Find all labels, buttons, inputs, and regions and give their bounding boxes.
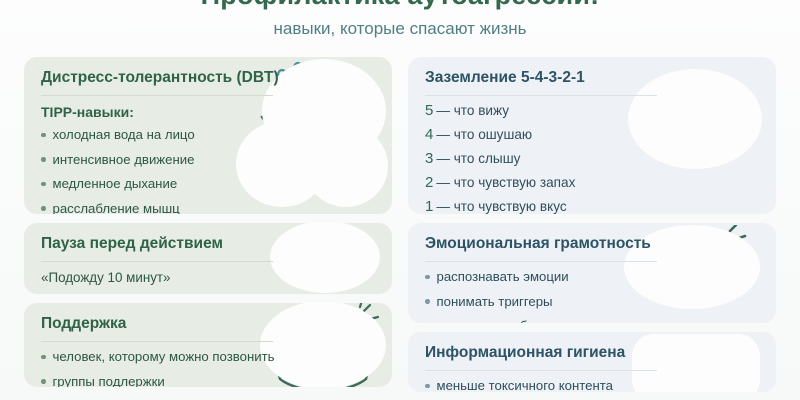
grounding-steps-list: 5— что вижу 4— что ошушаю 3— что слышу 2… (425, 103, 762, 214)
step-label: — что слышу (436, 151, 520, 166)
support-list: человек, которому можно позвонить группы… (41, 349, 378, 387)
list-item: 5— что вижу (425, 103, 762, 119)
page-header: Профилактика аутоагрессии: навыки, котор… (0, 0, 800, 40)
list-item: 3— что слышу (425, 151, 762, 167)
card-heading: Поддержка (41, 314, 378, 334)
divider (425, 261, 657, 262)
list-item: человек, которому можно позвонить (41, 349, 378, 365)
list-item-label: меньше токсичного контента (437, 378, 614, 392)
card-emotional-literacy[interactable]: Эмоциональная грамотность распознавать э… (408, 223, 776, 323)
card-subheading: TIPP-навыки: (41, 103, 378, 122)
step-number: 1 (425, 198, 433, 214)
card-heading: Заземление 5-4-3-2-1 (425, 68, 762, 88)
step-label: — что чувствую запах (436, 175, 575, 190)
bullet-dot (41, 182, 46, 187)
card-support[interactable]: Поддержка человек, которому можно позвон… (24, 303, 392, 387)
step-label: — что чувствую вкус (436, 199, 566, 214)
card-heading: Пауза перед действием (41, 234, 378, 254)
bullet-dot (41, 379, 46, 384)
bullet-dot (425, 384, 430, 389)
info-hygiene-list: меньше токсичного контента (425, 378, 762, 392)
emotional-literacy-list: распознавать эмоции понимать триггеры ра… (425, 269, 762, 323)
list-item-label: интенсивное движение (53, 152, 195, 168)
step-number: 2 (425, 174, 433, 191)
divider (41, 341, 273, 342)
card-grounding[interactable]: Заземление 5-4-3-2-1 5— что вижу 4— что … (408, 57, 776, 214)
step-label: — что ошушаю (436, 127, 532, 142)
card-heading: Информационная гигиена (425, 343, 762, 363)
left-column: Дистресс-толерантность (DBT) TIPP-навыки… (24, 57, 392, 387)
list-item: 2— что чувствую запах (425, 175, 762, 191)
step-number: 5 (425, 102, 433, 119)
list-item: группы подлержки (41, 374, 378, 388)
list-item-label: разрешать себе чувствовать (437, 318, 613, 323)
list-item-label: расслабление мышц (53, 201, 180, 215)
list-item: медленное дыхание (41, 176, 378, 192)
list-item: распознавать эмоции (425, 269, 762, 285)
list-item: холодная вода на лицо (41, 127, 378, 143)
list-item: меньше токсичного контента (425, 378, 762, 392)
list-item: расслабление мышц (41, 201, 378, 215)
card-heading: Эмоциональная грамотность (425, 234, 762, 254)
card-distress-tolerance[interactable]: Дистресс-толерантность (DBT) TIPP-навыки… (24, 57, 392, 214)
list-item-label: понимать триггеры (437, 294, 553, 310)
right-column: Заземление 5-4-3-2-1 5— что вижу 4— что … (408, 57, 776, 392)
list-item-label: медленное дыхание (53, 176, 178, 192)
bullet-dot (41, 355, 46, 360)
bullet-dot (41, 157, 46, 162)
bullet-dot (425, 275, 430, 280)
card-information-hygiene[interactable]: Информационная гигиена меньше токсичного… (408, 332, 776, 392)
list-item-label: группы подлержки (53, 374, 165, 388)
tipp-skills-list: холодная вода на лицо интенсивное движен… (41, 127, 378, 214)
divider (425, 370, 657, 371)
list-item-label: холодная вода на лицо (53, 127, 195, 143)
pause-quote: «Подожду 10 минут» (41, 269, 378, 286)
list-item: интенсивное движение (41, 152, 378, 168)
step-label: — что вижу (436, 103, 509, 118)
divider (41, 95, 273, 96)
card-heading: Дистресс-толерантность (DBT) (41, 68, 378, 88)
divider (41, 261, 273, 262)
bullet-dot (425, 299, 430, 304)
step-number: 3 (425, 150, 433, 167)
infographic-page: Профилактика аутоагрессии: навыки, котор… (0, 0, 800, 400)
page-title: Профилактика аутоагрессии: (0, 0, 800, 12)
list-item: разрешать себе чувствовать (425, 318, 762, 323)
bullet-dot (41, 206, 46, 211)
bullet-dot (41, 133, 46, 138)
step-number: 4 (425, 126, 433, 143)
divider (425, 95, 657, 96)
list-item: 4— что ошушаю (425, 127, 762, 143)
card-pause-before-action[interactable]: Пауза перед действием «Подожду 10 минут» (24, 223, 392, 294)
list-item-label: человек, которому можно позвонить (53, 349, 275, 365)
list-item-label: распознавать эмоции (437, 269, 569, 285)
page-subtitle: навыки, которые спасают жизнь (0, 18, 800, 40)
list-item: 1— что чувствую вкус (425, 199, 762, 214)
list-item: понимать триггеры (425, 294, 762, 310)
